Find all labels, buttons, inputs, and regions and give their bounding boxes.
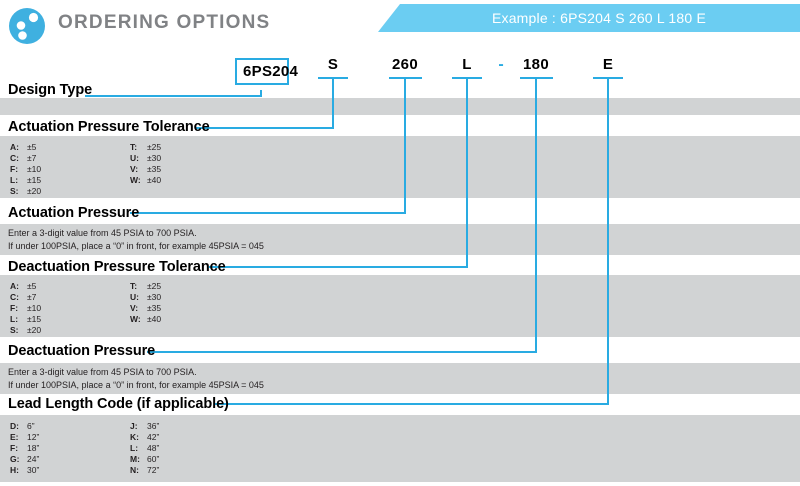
code-part-deactuation-tolerance[interactable]: L bbox=[447, 55, 487, 79]
code-value: ±5 bbox=[27, 281, 36, 292]
section-label-lead-length: Lead Length Code (if applicable) bbox=[8, 396, 229, 412]
code-value: 30” bbox=[27, 465, 39, 476]
note-line: If under 100PSIA, place a “0” in front, … bbox=[8, 240, 264, 253]
code-key: V: bbox=[130, 164, 147, 175]
table-row: S:±20 bbox=[10, 186, 41, 197]
code-part-label: 6PS204 bbox=[243, 62, 281, 81]
code-value: ±25 bbox=[147, 142, 161, 153]
code-value: ±7 bbox=[27, 153, 36, 164]
order-code-row: 6PS204 S 260 L - 180 E bbox=[0, 55, 800, 95]
code-value: ±30 bbox=[147, 292, 161, 303]
code-key: C: bbox=[10, 292, 27, 303]
code-value: 72” bbox=[147, 465, 159, 476]
code-part-label: 260 bbox=[383, 55, 427, 74]
code-part-design-type[interactable]: 6PS204 bbox=[235, 58, 289, 85]
note-line: Enter a 3-digit value from 45 PSIA to 70… bbox=[8, 366, 264, 379]
code-key: S: bbox=[10, 325, 27, 336]
lead-length-col-right: J:36” K:42” L:48” M:60” N:72” bbox=[130, 421, 159, 476]
table-row: F:±10 bbox=[10, 303, 41, 314]
code-underline bbox=[593, 77, 623, 79]
code-key: A: bbox=[10, 281, 27, 292]
table-row: H:30” bbox=[10, 465, 39, 476]
deactuation-tolerance-table: A:±5 C:±7 F:±10 L:±15 S:±20 T:±25 U:±30 … bbox=[10, 281, 250, 339]
code-key: J: bbox=[130, 421, 147, 432]
table-row: S:±20 bbox=[10, 325, 41, 336]
code-underline bbox=[318, 77, 348, 79]
code-key: U: bbox=[130, 153, 147, 164]
code-value: 12” bbox=[27, 432, 39, 443]
code-key: T: bbox=[130, 142, 147, 153]
code-key: D: bbox=[10, 421, 27, 432]
table-row: C:±7 bbox=[10, 292, 41, 303]
code-part-actuation-tolerance[interactable]: S bbox=[313, 55, 353, 79]
table-row: M:60” bbox=[130, 454, 159, 465]
lead-length-table: D:6” E:12” F:18” G:24” H:30” J:36” K:42”… bbox=[10, 421, 250, 479]
code-value: 36” bbox=[147, 421, 159, 432]
code-part-label: E bbox=[588, 55, 628, 74]
code-value: ±25 bbox=[147, 281, 161, 292]
tolerance-col-right: T:±25 U:±30 V:±35 W:±40 bbox=[130, 142, 161, 186]
code-key: A: bbox=[10, 142, 27, 153]
code-value: ±35 bbox=[147, 303, 161, 314]
table-row: F:18” bbox=[10, 443, 39, 454]
code-value: ±20 bbox=[27, 186, 41, 197]
code-value: ±30 bbox=[147, 153, 161, 164]
code-value: 48” bbox=[147, 443, 159, 454]
table-row: L:±15 bbox=[10, 175, 41, 186]
note-line: If under 100PSIA, place a “0” in front, … bbox=[8, 379, 264, 392]
tolerance-col-left: A:±5 C:±7 F:±10 L:±15 S:±20 bbox=[10, 281, 41, 336]
code-key: F: bbox=[10, 303, 27, 314]
deactuation-pressure-note: Enter a 3-digit value from 45 PSIA to 70… bbox=[8, 366, 264, 392]
band-design-type bbox=[0, 98, 800, 115]
example-banner-label: Example : 6PS204 S 260 L 180 E bbox=[378, 4, 800, 32]
code-value: 24” bbox=[27, 454, 39, 465]
table-row: D:6” bbox=[10, 421, 39, 432]
code-key: L: bbox=[10, 175, 27, 186]
code-key: W: bbox=[130, 314, 147, 325]
code-key: V: bbox=[130, 303, 147, 314]
code-key: G: bbox=[10, 454, 27, 465]
table-row: L:48” bbox=[130, 443, 159, 454]
code-key: K: bbox=[130, 432, 147, 443]
lead-length-col-left: D:6” E:12” F:18” G:24” H:30” bbox=[10, 421, 39, 476]
code-value: 60” bbox=[147, 454, 159, 465]
table-row: A:±5 bbox=[10, 142, 41, 153]
code-key: M: bbox=[130, 454, 147, 465]
actuation-tolerance-table: A:±5 C:±7 F:±10 L:±15 S:±20 T:±25 U:±30 … bbox=[10, 142, 250, 200]
section-label-deactuation-pressure: Deactuation Pressure bbox=[8, 343, 155, 359]
actuation-pressure-note: Enter a 3-digit value from 45 PSIA to 70… bbox=[8, 227, 264, 253]
code-key: E: bbox=[10, 432, 27, 443]
code-key: S: bbox=[10, 186, 27, 197]
table-row: C:±7 bbox=[10, 153, 41, 164]
code-part-lead-length[interactable]: E bbox=[588, 55, 628, 79]
code-value: ±15 bbox=[27, 314, 41, 325]
code-value: ±40 bbox=[147, 175, 161, 186]
section-label-actuation-pressure: Actuation Pressure bbox=[8, 205, 139, 221]
section-label-deactuation-tolerance: Deactuation Pressure Tolerance bbox=[8, 259, 226, 275]
code-part-deactuation-pressure[interactable]: 180 bbox=[514, 55, 558, 79]
table-row: E:12” bbox=[10, 432, 39, 443]
table-row: W:±40 bbox=[130, 314, 161, 325]
code-value: 42” bbox=[147, 432, 159, 443]
code-key: F: bbox=[10, 164, 27, 175]
section-label-actuation-tolerance: Actuation Pressure Tolerance bbox=[8, 119, 210, 135]
code-underline bbox=[452, 77, 482, 79]
code-key: H: bbox=[10, 465, 27, 476]
table-row: U:±30 bbox=[130, 292, 161, 303]
code-key: T: bbox=[130, 281, 147, 292]
table-row: N:72” bbox=[130, 465, 159, 476]
code-key: N: bbox=[130, 465, 147, 476]
code-part-label: 180 bbox=[514, 55, 558, 74]
table-row: V:±35 bbox=[130, 303, 161, 314]
code-key: W: bbox=[130, 175, 147, 186]
page-header: ORDERING OPTIONS Example : 6PS204 S 260 … bbox=[0, 0, 800, 44]
code-value: 6” bbox=[27, 421, 35, 432]
code-separator-dash: - bbox=[495, 55, 507, 74]
table-row: A:±5 bbox=[10, 281, 41, 292]
table-row: G:24” bbox=[10, 454, 39, 465]
code-key: L: bbox=[10, 314, 27, 325]
note-line: Enter a 3-digit value from 45 PSIA to 70… bbox=[8, 227, 264, 240]
tolerance-col-left: A:±5 C:±7 F:±10 L:±15 S:±20 bbox=[10, 142, 41, 197]
table-row: T:±25 bbox=[130, 142, 161, 153]
code-value: ±35 bbox=[147, 164, 161, 175]
section-label-design-type: Design Type bbox=[8, 82, 92, 98]
code-value: ±5 bbox=[27, 142, 36, 153]
code-underline bbox=[389, 77, 422, 79]
table-row: L:±15 bbox=[10, 314, 41, 325]
table-row: W:±40 bbox=[130, 175, 161, 186]
table-row: U:±30 bbox=[130, 153, 161, 164]
ordering-options-page: ORDERING OPTIONS Example : 6PS204 S 260 … bbox=[0, 0, 800, 486]
code-key: F: bbox=[10, 443, 27, 454]
code-key: C: bbox=[10, 153, 27, 164]
code-underline bbox=[520, 77, 553, 79]
code-value: ±40 bbox=[147, 314, 161, 325]
code-key: U: bbox=[130, 292, 147, 303]
code-value: ±7 bbox=[27, 292, 36, 303]
code-value: ±10 bbox=[27, 164, 41, 175]
code-value: ±10 bbox=[27, 303, 41, 314]
code-key: L: bbox=[130, 443, 147, 454]
table-row: K:42” bbox=[130, 432, 159, 443]
tolerance-col-right: T:±25 U:±30 V:±35 W:±40 bbox=[130, 281, 161, 325]
code-part-label: L bbox=[447, 55, 487, 74]
code-value: ±15 bbox=[27, 175, 41, 186]
code-value: ±20 bbox=[27, 325, 41, 336]
code-value: 18” bbox=[27, 443, 39, 454]
table-row: V:±35 bbox=[130, 164, 161, 175]
example-banner: Example : 6PS204 S 260 L 180 E bbox=[378, 4, 800, 32]
table-row: F:±10 bbox=[10, 164, 41, 175]
code-part-actuation-pressure[interactable]: 260 bbox=[383, 55, 427, 79]
table-row: J:36” bbox=[130, 421, 159, 432]
circle-three-dots-icon bbox=[8, 7, 46, 45]
page-title: ORDERING OPTIONS bbox=[58, 12, 270, 34]
table-row: T:±25 bbox=[130, 281, 161, 292]
code-part-label: S bbox=[313, 55, 353, 74]
